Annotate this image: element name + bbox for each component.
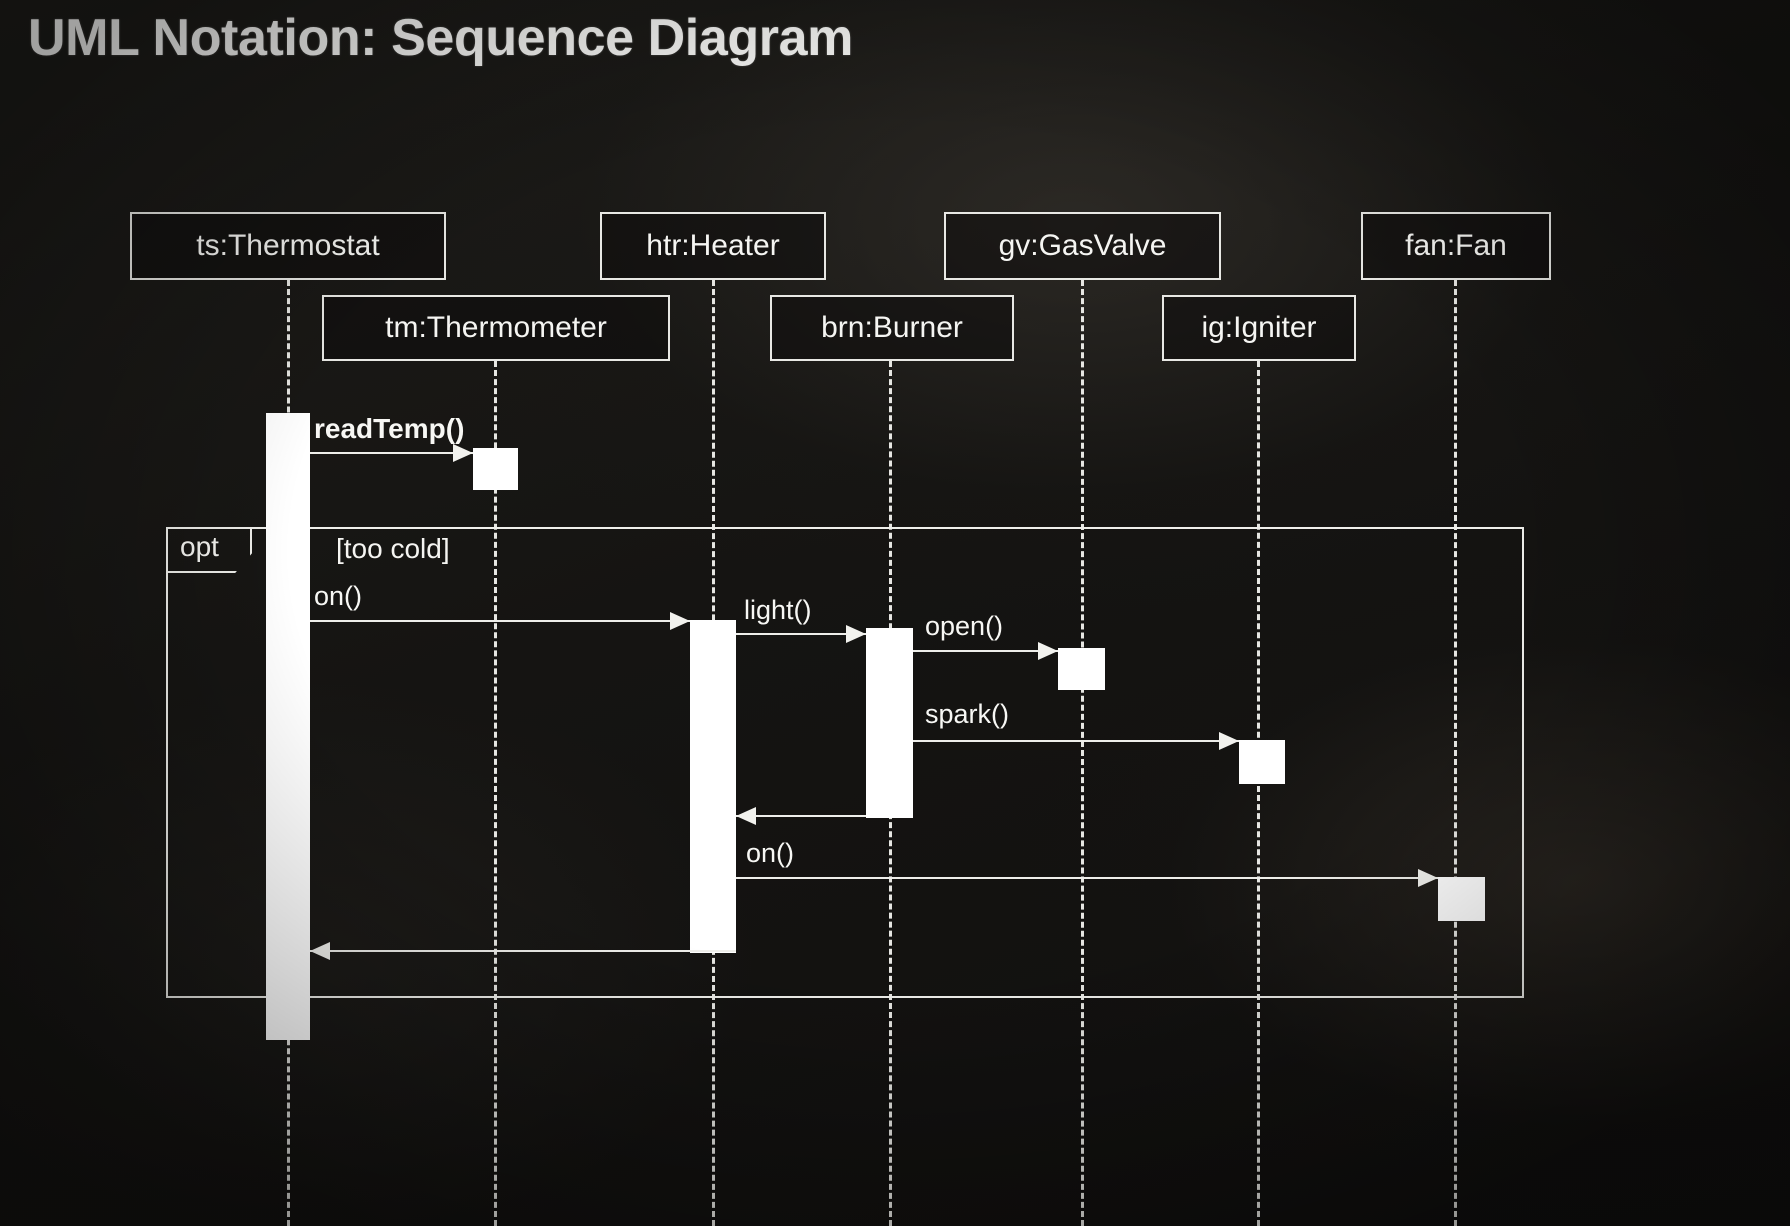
message-line-m8 — [310, 950, 736, 952]
participant-label-gv: gv:GasValve — [999, 229, 1167, 263]
message-label-m5: spark() — [925, 699, 1009, 730]
message-line-m2 — [310, 620, 690, 622]
message-label-m4: open() — [925, 611, 1003, 642]
fragment-guard-condition: [too cold] — [336, 533, 450, 565]
participant-label-ts: ts:Thermostat — [196, 229, 379, 263]
message-line-m5 — [913, 740, 1239, 742]
message-arrowhead-m7 — [1418, 869, 1438, 887]
participant-label-htr: htr:Heater — [646, 229, 779, 263]
participant-label-fan: fan:Fan — [1405, 229, 1507, 263]
activation-bar-ts[interactable] — [266, 413, 310, 1040]
page-title: UML Notation: Sequence Diagram — [28, 8, 853, 68]
participant-label-tm: tm:Thermometer — [385, 311, 607, 345]
activation-bar-tm[interactable] — [473, 448, 518, 490]
message-label-m3: light() — [744, 595, 812, 626]
participant-box-ig[interactable]: ig:Igniter — [1162, 295, 1356, 361]
message-arrowhead-m3 — [846, 625, 866, 643]
activation-bar-htr[interactable] — [690, 620, 736, 953]
participant-box-ts[interactable]: ts:Thermostat — [130, 212, 446, 280]
participant-box-htr[interactable]: htr:Heater — [600, 212, 826, 280]
message-line-m4 — [913, 650, 1058, 652]
participant-label-brn: brn:Burner — [821, 311, 963, 345]
message-arrowhead-m2 — [670, 612, 690, 630]
message-label-m2: on() — [314, 581, 362, 612]
message-arrowhead-m5 — [1219, 732, 1239, 750]
activation-bar-brn[interactable] — [866, 628, 913, 818]
activation-bar-ig[interactable] — [1239, 740, 1285, 784]
participant-box-tm[interactable]: tm:Thermometer — [322, 295, 670, 361]
message-label-m1: readTemp() — [314, 413, 464, 445]
message-line-m1 — [310, 452, 473, 454]
fragment-operator-tag: opt — [168, 529, 252, 573]
participant-box-brn[interactable]: brn:Burner — [770, 295, 1014, 361]
message-label-m7: on() — [746, 838, 794, 869]
participant-box-gv[interactable]: gv:GasValve — [944, 212, 1221, 280]
fragment-operator-label: opt — [180, 531, 219, 563]
message-arrowhead-m4 — [1038, 642, 1058, 660]
message-line-m7 — [736, 877, 1438, 879]
message-arrowhead-m1 — [453, 444, 473, 462]
message-arrowhead-m8 — [310, 942, 330, 960]
message-arrowhead-m6 — [736, 807, 756, 825]
activation-bar-fan[interactable] — [1438, 877, 1485, 921]
combined-fragment-opt[interactable]: opt — [166, 527, 1524, 998]
activation-bar-gv[interactable] — [1058, 648, 1105, 690]
participant-label-ig: ig:Igniter — [1201, 311, 1316, 345]
slide-canvas: UML Notation: Sequence Diagram opt[too c… — [0, 0, 1790, 1226]
participant-box-fan[interactable]: fan:Fan — [1361, 212, 1551, 280]
